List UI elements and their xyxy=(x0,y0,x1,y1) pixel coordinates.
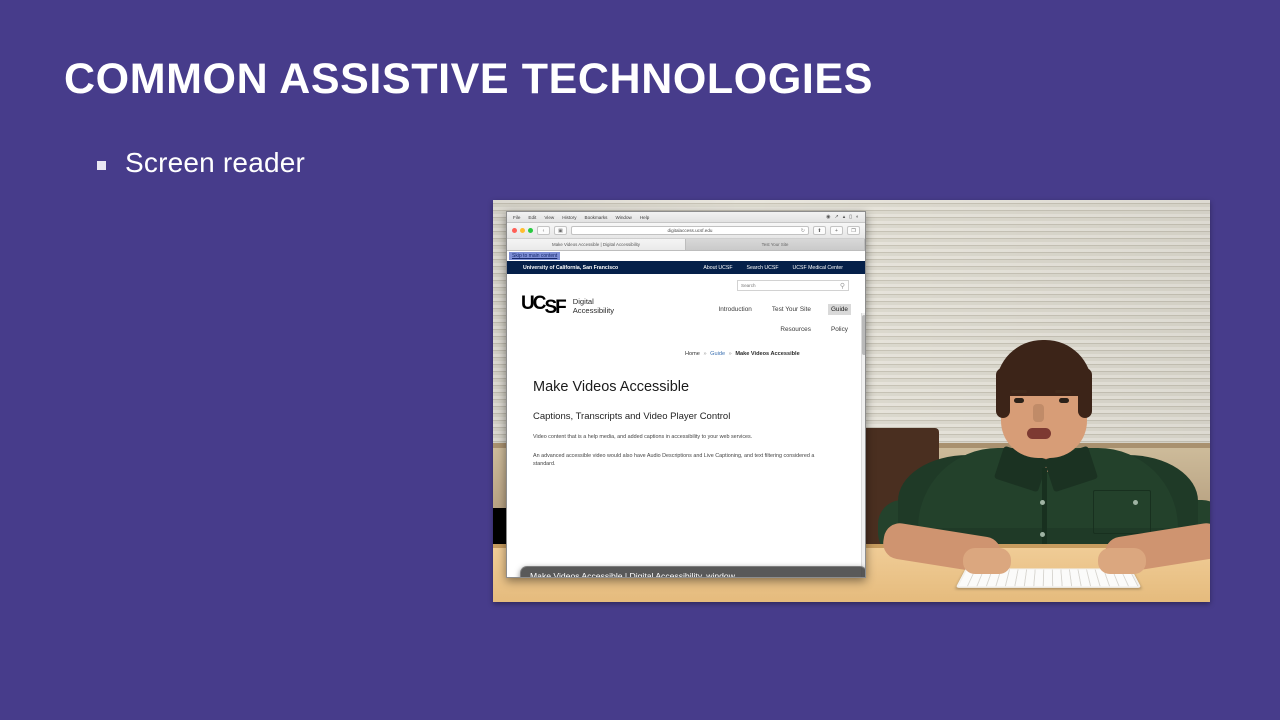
bullet-list: Screen reader xyxy=(97,147,305,179)
sidebar-button[interactable]: ▣ xyxy=(554,226,567,235)
mac-menu-bar[interactable]: File Edit View History Bookmarks Window … xyxy=(507,212,865,223)
battery-icon[interactable]: ▯ xyxy=(849,214,852,220)
content-paragraph: An advanced accessible video would also … xyxy=(533,452,833,469)
nav-row-secondary: Resources Policy xyxy=(715,324,851,335)
bullet-label: Screen reader xyxy=(125,147,305,179)
nav-item-policy[interactable]: Policy xyxy=(828,324,851,335)
content-subheading: Captions, Transcripts and Video Player C… xyxy=(533,411,853,423)
person-eyebrow-right xyxy=(1055,390,1071,393)
search-icon[interactable]: ⚲ xyxy=(840,282,845,290)
voiceover-caption-panel: Make Videos Accessible | Digital Accessi… xyxy=(520,566,866,578)
browser-tab-inactive[interactable]: Test Your Site xyxy=(686,239,865,250)
person-nose xyxy=(1033,404,1044,422)
url-text: digitalaccess.ucsf.edu xyxy=(668,228,713,233)
scrollbar-thumb[interactable] xyxy=(862,315,866,355)
show-tabs-button[interactable]: ❐ xyxy=(847,226,860,235)
pocket-button xyxy=(1133,500,1138,505)
site-name-line2: Accessibility xyxy=(573,306,614,315)
breadcrumb-current: Make Videos Accessible xyxy=(735,351,799,357)
browser-tab-active[interactable]: Make Videos Accessible | Digital Accessi… xyxy=(507,239,686,250)
browser-tab-bar[interactable]: Make Videos Accessible | Digital Accessi… xyxy=(507,239,865,251)
site-name: Digital Accessibility xyxy=(573,292,614,316)
breadcrumb-separator: » xyxy=(703,351,706,357)
page-title: COMMON ASSISTIVE TECHNOLOGIES xyxy=(64,55,873,104)
bullet-square-icon xyxy=(97,161,106,170)
close-icon[interactable] xyxy=(512,228,517,233)
menu-item-help[interactable]: Help xyxy=(640,215,649,220)
site-main-nav[interactable]: Introduction Test Your Site Guide Resour… xyxy=(715,304,851,335)
reload-icon[interactable]: ↻ xyxy=(801,228,805,234)
breadcrumb-guide[interactable]: Guide xyxy=(710,351,725,357)
shirt-button xyxy=(1040,500,1045,505)
ucsf-global-navbar[interactable]: University of California, San Francisco … xyxy=(507,261,865,274)
site-name-line1: Digital xyxy=(573,297,614,306)
maximize-icon[interactable] xyxy=(528,228,533,233)
breadcrumb-home[interactable]: Home xyxy=(685,351,700,357)
person-eye-right xyxy=(1059,398,1069,403)
minimize-icon[interactable] xyxy=(520,228,525,233)
nav-item-guide[interactable]: Guide xyxy=(828,304,851,315)
add-tab-button[interactable]: + xyxy=(830,226,843,235)
logo-sf: SF xyxy=(544,298,564,317)
nav-item-introduction[interactable]: Introduction xyxy=(715,304,754,315)
wifi-icon[interactable]: ▴ xyxy=(843,214,846,220)
menu-item-file[interactable]: File xyxy=(513,215,520,220)
global-link-medical-center[interactable]: UCSF Medical Center xyxy=(793,265,843,271)
menu-item-bookmarks[interactable]: Bookmarks xyxy=(585,215,608,220)
person-eye-left xyxy=(1014,398,1024,403)
voiceover-caption-text: Make Videos Accessible | Digital Accessi… xyxy=(530,571,857,578)
menu-item-window[interactable]: Window xyxy=(615,215,631,220)
page-scrollbar[interactable] xyxy=(861,313,865,578)
search-row: ⚲ xyxy=(507,274,865,291)
window-controls[interactable] xyxy=(512,228,533,233)
person-mouth xyxy=(1027,428,1051,439)
person-hair-right xyxy=(1078,368,1092,418)
global-link-about-ucsf[interactable]: About UCSF xyxy=(703,265,732,271)
global-nav-links: About UCSF Search UCSF UCSF Medical Cent… xyxy=(703,265,865,271)
airplay-icon[interactable]: ↗ xyxy=(834,214,838,220)
person-hand-left xyxy=(963,548,1011,574)
bluetooth-icon[interactable]: ◉ xyxy=(826,214,830,220)
content-paragraph: Video content that is a help media, and … xyxy=(533,433,833,441)
nav-item-test-your-site[interactable]: Test Your Site xyxy=(769,304,814,315)
logo-uc: UC xyxy=(521,293,544,314)
breadcrumb-separator: » xyxy=(729,351,732,357)
list-item: Screen reader xyxy=(97,147,305,179)
menubar-status-icons: ◉ ↗ ▴ ▯ ◐ xyxy=(826,214,859,220)
skip-to-main-content-link[interactable]: Skip to main content xyxy=(509,252,560,260)
university-name[interactable]: University of California, San Francisco xyxy=(523,265,618,271)
share-button[interactable]: ⬆ xyxy=(813,226,826,235)
breadcrumb: Home » Guide » Make Videos Accessible xyxy=(685,351,800,357)
search-input[interactable] xyxy=(741,283,838,288)
nav-row-primary: Introduction Test Your Site Guide xyxy=(715,304,851,315)
skip-link-row: Skip to main content xyxy=(507,251,865,261)
site-search-box[interactable]: ⚲ xyxy=(737,280,849,291)
content-heading: Make Videos Accessible xyxy=(533,379,853,395)
site-content: Make Videos Accessible Captions, Transcr… xyxy=(533,379,853,468)
url-input[interactable]: digitalaccess.ucsf.edu ↻ xyxy=(571,226,809,235)
embedded-video[interactable]: File Edit View History Bookmarks Window … xyxy=(493,200,1210,602)
global-link-search-ucsf[interactable]: Search UCSF xyxy=(747,265,779,271)
back-button[interactable]: ‹ xyxy=(537,226,550,235)
browser-window[interactable]: File Edit View History Bookmarks Window … xyxy=(506,211,866,578)
person-hair-left xyxy=(996,368,1010,418)
menu-item-history[interactable]: History xyxy=(562,215,576,220)
site-page-body: ⚲ UCSF Digital Accessibility Introductio… xyxy=(507,274,865,578)
browser-toolbar[interactable]: ‹ ▣ digitalaccess.ucsf.edu ↻ ⬆ + ❐ xyxy=(507,223,865,239)
menu-item-view[interactable]: View xyxy=(544,215,554,220)
person-eyebrow-left xyxy=(1011,390,1027,393)
clock-icon[interactable]: ◐ xyxy=(856,214,859,220)
menu-item-edit[interactable]: Edit xyxy=(528,215,536,220)
person-hand-right xyxy=(1098,548,1146,574)
ucsf-logo[interactable]: UCSF xyxy=(521,294,565,313)
nav-item-resources[interactable]: Resources xyxy=(777,324,814,335)
shirt-pocket xyxy=(1093,490,1151,534)
shirt-button xyxy=(1040,532,1045,537)
